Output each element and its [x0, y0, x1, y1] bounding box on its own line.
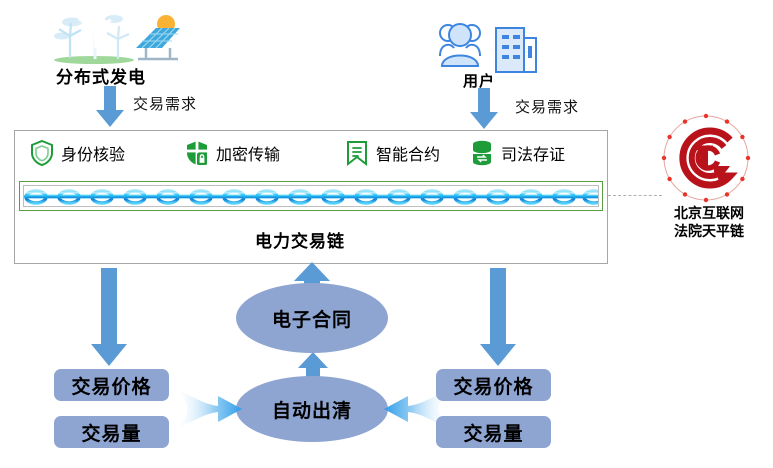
input-box-right-volume[interactable]: 交易量: [436, 416, 551, 448]
court-dashed-connector: [608, 195, 662, 196]
feature-label: 司法存证: [501, 141, 565, 165]
node-automatic-clearing[interactable]: 自动出清: [236, 376, 388, 442]
arrow-demand-right: [467, 88, 501, 130]
feature-label: 智能合约: [376, 141, 440, 165]
demand-label-right: 交易需求: [515, 96, 579, 117]
court-label-line1: 北京互联网: [668, 206, 750, 224]
feature-judicial-evidence: 司法存证: [470, 140, 565, 166]
chain-panel-title: 电力交易链: [255, 227, 345, 252]
feature-label: 加密传输: [216, 141, 280, 165]
court-label-line2: 法院天平链: [668, 224, 750, 242]
arrow-demand-left: [93, 86, 127, 128]
input-box-left-volume[interactable]: 交易量: [54, 416, 169, 448]
diagram-canvas: 分布式发电 交易需求: [0, 0, 773, 468]
contract-bookmark-icon: [345, 140, 369, 166]
blockchain-links-icon: [23, 185, 599, 207]
feature-encrypted-transfer: 加密传输: [185, 140, 280, 166]
node-electronic-contract[interactable]: 电子合同: [236, 283, 388, 353]
user-building-icon: [428, 20, 538, 74]
input-box-label: 交易量: [81, 419, 141, 446]
database-cylinder-icon: [470, 140, 494, 166]
arrow-left-inputs-to-clearing: [174, 386, 244, 432]
input-box-label: 交易价格: [453, 372, 533, 399]
court-label: 北京互联网 法院天平链: [668, 206, 750, 241]
input-box-right-price[interactable]: 交易价格: [436, 369, 551, 401]
input-box-label: 交易价格: [71, 372, 151, 399]
source-label-generation: 分布式发电: [56, 63, 146, 88]
shield-check-icon: [30, 140, 54, 166]
feature-identity-verification: 身份核验: [30, 140, 125, 166]
beijing-internet-court-logo: [660, 112, 752, 204]
node-label: 自动出清: [272, 396, 352, 423]
input-box-label: 交易量: [463, 419, 523, 446]
shield-lock-icon: [185, 140, 209, 166]
arrow-clearing-to-contract: [296, 352, 330, 378]
arrow-panel-to-left-inputs: [89, 268, 129, 368]
arrow-panel-to-right-inputs: [478, 268, 518, 368]
node-label: 电子合同: [272, 305, 352, 332]
blockchain-strip: [19, 181, 603, 211]
demand-label-left: 交易需求: [133, 93, 197, 114]
wind-solar-icon: [52, 12, 180, 64]
feature-label: 身份核验: [61, 141, 125, 165]
feature-smart-contract: 智能合约: [345, 140, 440, 166]
input-box-left-price[interactable]: 交易价格: [54, 369, 169, 401]
